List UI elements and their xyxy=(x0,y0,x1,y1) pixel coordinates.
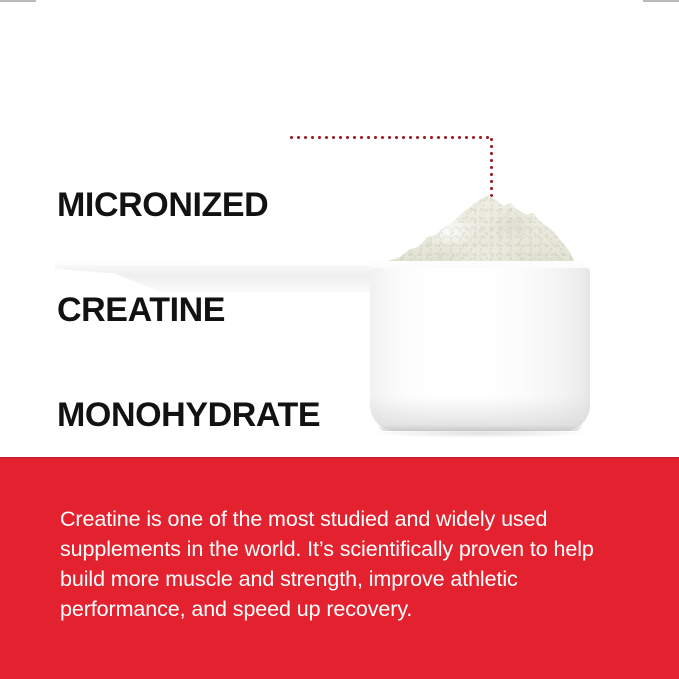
scoop-ground-shadow xyxy=(372,428,588,438)
banner-top-edge xyxy=(0,457,679,459)
description-text: Creatine is one of the most studied and … xyxy=(60,504,640,624)
scoop-handle-highlight xyxy=(55,261,385,265)
product-infographic: MICRONIZED CREATINE MONOHYDRATE Creatine… xyxy=(0,0,679,679)
hero-panel: MICRONIZED CREATINE MONOHYDRATE xyxy=(0,0,679,457)
description-banner: Creatine is one of the most studied and … xyxy=(0,457,679,679)
scoop-handle xyxy=(55,261,385,292)
scoop-image xyxy=(0,0,679,457)
